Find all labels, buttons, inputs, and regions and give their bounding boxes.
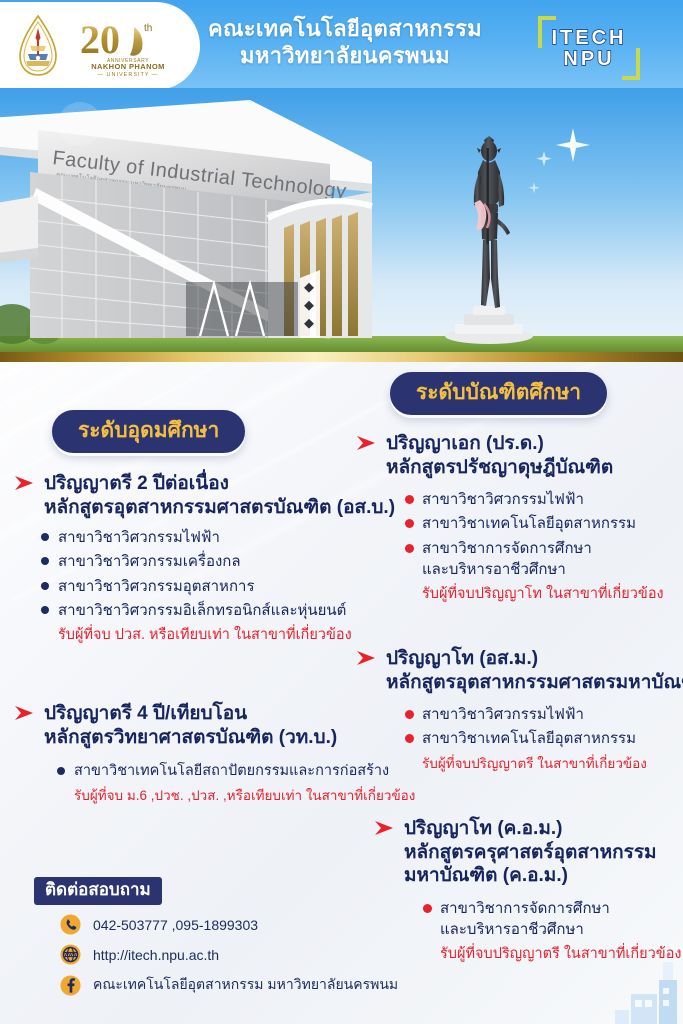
arrow-right-icon (356, 650, 378, 666)
contact-section: ติดต่อสอบถาม 042-503777 ,095-1899303 www… (34, 877, 334, 996)
major-label: สาขาวิชาวิศวกรรมไฟฟ้า (58, 529, 220, 546)
website-url: http://itech.npu.ac.th (93, 947, 219, 963)
bullet-dot-icon (41, 582, 49, 590)
major-list: สาขาวิชาวิศวกรรมไฟฟ้า สาขาวิชาเทคโนโลยีอ… (404, 489, 683, 604)
contact-row-phone[interactable]: 042-503777 ,095-1899303 (34, 914, 334, 935)
major-list: สาขาวิชาวิศวกรรมไฟฟ้า สาขาวิชาวิศวกรรมเค… (40, 527, 344, 645)
list-item: สาขาวิชาเทคโนโลยีอุตสาหกรรม (404, 728, 683, 749)
list-item: สาขาวิชาการจัดการศึกษา และบริหารอาชีวศึก… (404, 538, 683, 581)
program-title-line1: ปริญญาเอก (ปร.ด.) (386, 432, 613, 456)
major-label: สาขาวิชาวิศวกรรมอิเล็กทรอนิกส์และหุ่นยนต… (58, 602, 346, 619)
bullet-dot-icon (41, 533, 49, 541)
program-block: ปริญญาโท (ค.อ.ม.) หลักสูตรครุศาสตร์อุตสา… (374, 817, 683, 968)
program-block: ปริญญาเอก (ปร.ด.) หลักสูตรปรัชญาดุษฎีบัณ… (356, 432, 683, 608)
svg-text:20: 20 (80, 17, 120, 62)
svg-text:— UNIVERSITY —: — UNIVERSITY — (98, 72, 159, 78)
list-item-note: รับผู้ที่จบปริญญาตรี ในสาขาที่เกี่ยวข้อง (404, 753, 683, 774)
svg-text:www: www (64, 952, 78, 958)
bullet-dot-icon (423, 904, 432, 913)
bullet-dot-icon (405, 734, 414, 743)
major-list: สาขาวิชาการจัดการศึกษา และบริหารอาชีวศึก… (422, 898, 683, 965)
list-item: สาขาวิชาเทคโนโลยีสถาปัตยกรรมและการก่อสร้… (56, 761, 344, 782)
bullet-dot-icon (405, 544, 414, 553)
admission-note: รับผู้ที่จบปริญญาตรี ในสาขาที่เกี่ยวข้อง (422, 756, 647, 771)
list-item: สาขาวิชาการจัดการศึกษา และบริหารอาชีวศึก… (422, 898, 683, 941)
bullet-dot-icon (41, 606, 49, 614)
phone-number: 042-503777 ,095-1899303 (93, 917, 258, 933)
admission-note: รับผู้ที่จบปริญญาโท ในสาขาที่เกี่ยวข้อง (422, 586, 664, 602)
undergraduate-pill-wrap: ระดับอุดมศึกษา (52, 410, 245, 453)
arrow-right-icon (14, 705, 36, 721)
bullet-dot-icon (405, 495, 414, 504)
list-item-note: รับผู้ที่จบ ปวส. หรือเทียบเท่า ในสาขาที่… (40, 624, 344, 645)
program-block: ปริญญาตรี 4 ปี/เทียบโอน หลักสูตรวิทยาศาส… (14, 702, 344, 809)
list-item: สาขาวิชาวิศวกรรมอุตสาหการ (40, 576, 344, 597)
major-label: สาขาวิชาการจัดการศึกษา (440, 900, 610, 917)
major-list: สาขาวิชาวิศวกรรมไฟฟ้า สาขาวิชาเทคโนโลยีอ… (404, 704, 683, 774)
graduate-column: ระดับบัณฑิตศึกษา ปริญญาเอก (ปร.ด.) หลักส… (338, 362, 683, 1024)
program-heading: ปริญญาเอก (ปร.ด.) หลักสูตรปรัชญาดุษฎีบัณ… (356, 432, 683, 479)
undergraduate-pill-label: ระดับอุดมศึกษา (52, 410, 245, 453)
major-list: สาขาวิชาเทคโนโลยีสถาปัตยกรรมและการก่อสร้… (56, 761, 344, 806)
page-title-line2: มหาวิทยาลัยนครพนม (180, 43, 510, 70)
itech-npu-logo: ITECH NPU (534, 14, 644, 82)
contact-row-facebook[interactable]: คณะเทคโนโลยีอุตสาหกรรม มหาวิทยาลัยนครพนม (34, 974, 334, 996)
list-item: สาขาวิชาวิศวกรรมไฟฟ้า (40, 527, 344, 548)
major-label: สาขาวิชาวิศวกรรมเครื่องกล (58, 553, 241, 570)
contact-title: ติดต่อสอบถาม (34, 877, 162, 905)
arrow-right-icon (14, 475, 36, 491)
list-item-note: รับผู้ที่จบปริญญาโท ในสาขาที่เกี่ยวข้อง (404, 583, 683, 604)
list-item: สาขาวิชาวิศวกรรมไฟฟ้า (404, 489, 683, 510)
list-item: สาขาวิชาวิศวกรรมไฟฟ้า (404, 704, 683, 725)
bullet-dot-icon (57, 767, 65, 775)
program-title-line1: ปริญญาโท (ค.อ.ม.) (404, 817, 657, 841)
gold-divider (0, 352, 683, 362)
header-logo-group: 20 th ANNIVERSARY NAKHON PHANOM — UNIVER… (0, 2, 200, 90)
anniversary-logo-icon: 20 th ANNIVERSARY NAKHON PHANOM — UNIVER… (72, 13, 184, 79)
program-heading: ปริญญาโท (อส.ม.) หลักสูตรอุตสาหกรรมศาสตร… (356, 647, 683, 694)
list-item: สาขาวิชาเทคโนโลยีอุตสาหกรรม (404, 513, 683, 534)
program-heading: ปริญญาตรี 4 ปี/เทียบโอน หลักสูตรวิทยาศาส… (14, 702, 344, 749)
undergraduate-column: ระดับอุดมศึกษา ปริญญาตรี 2 ปีต่อเนื่อง ห… (0, 362, 345, 1024)
bullet-dot-icon (405, 519, 414, 528)
major-label: สาขาวิชาวิศวกรรมอุตสาหการ (58, 578, 255, 595)
list-item: สาขาวิชาวิศวกรรมเครื่องกล (40, 551, 344, 572)
major-label: สาขาวิชาเทคโนโลยีอุตสาหกรรม (422, 515, 636, 532)
program-block: ปริญญาโท (อส.ม.) หลักสูตรอุตสาหกรรมศาสตร… (356, 647, 683, 777)
itech-logo-line1: ITECH (552, 28, 627, 48)
contact-row-website[interactable]: www http://itech.npu.ac.th (34, 944, 334, 965)
arrow-right-icon (356, 435, 378, 451)
major-label-continued: และบริหารอาชีวศึกษา (440, 919, 683, 940)
page-title-line1: คณะเทคโนโลยีอุตสาหกรรม (180, 16, 510, 43)
poster-header: 20 th ANNIVERSARY NAKHON PHANOM — UNIVER… (0, 0, 683, 92)
arrow-right-icon (374, 820, 396, 836)
admission-note: รับผู้ที่จบปริญญาตรี ในสาขาที่เกี่ยวข้อง (440, 946, 682, 962)
major-label: สาขาวิชาเทคโนโลยีอุตสาหกรรม (422, 730, 636, 747)
major-label: สาขาวิชาวิศวกรรมไฟฟ้า (422, 491, 584, 508)
list-item-note: รับผู้ที่จบปริญญาตรี ในสาขาที่เกี่ยวข้อง (422, 943, 683, 964)
facebook-icon (60, 975, 81, 996)
svg-text:NAKHON PHANOM: NAKHON PHANOM (91, 62, 165, 71)
website-icon: www (60, 944, 81, 965)
major-label: สาขาวิชาการจัดการศึกษา (422, 540, 592, 557)
bullet-dot-icon (405, 710, 414, 719)
itech-logo-line2: NPU (563, 49, 614, 69)
page-title: คณะเทคโนโลยีอุตสาหกรรม มหาวิทยาลัยนครพนม (180, 16, 510, 70)
program-title-line1: ปริญญาตรี 4 ปี/เทียบโอน (44, 702, 337, 726)
program-title-line1: ปริญญาโท (อส.ม.) (386, 647, 683, 671)
graduate-pill-wrap: ระดับบัณฑิตศึกษา (390, 372, 607, 415)
list-item-note: รับผู้ที่จบ ม.6 ,ปวช. ,ปวส. ,หรือเทียบเท… (56, 785, 344, 806)
hero-photo: Faculty of Industrial Technology คณะเทคโ… (0, 88, 683, 360)
program-block: ปริญญาตรี 2 ปีต่อเนื่อง หลักสูตรอุตสาหกร… (14, 472, 344, 649)
major-label: สาขาวิชาวิศวกรรมไฟฟ้า (422, 706, 584, 723)
poster-root: 20 th ANNIVERSARY NAKHON PHANOM — UNIVER… (0, 0, 683, 1024)
program-title-line2: หลักสูตรอุตสาหกรรมศาสตรมหาบัณฑิต (386, 671, 683, 695)
program-title-line2: หลักสูตรวิทยาศาสตรบัณฑิต (วท.บ.) (44, 726, 337, 750)
major-label-continued: และบริหารอาชีวศึกษา (422, 559, 683, 580)
program-heading: ปริญญาโท (ค.อ.ม.) หลักสูตรครุศาสตร์อุตสา… (374, 817, 683, 888)
graduate-pill-label: ระดับบัณฑิตศึกษา (390, 372, 607, 415)
svg-text:th: th (144, 23, 152, 34)
university-seal-icon (10, 14, 66, 78)
admission-note: รับผู้ที่จบ ปวส. หรือเทียบเท่า ในสาขาที่… (58, 627, 352, 643)
program-heading: ปริญญาตรี 2 ปีต่อเนื่อง หลักสูตรอุตสาหกร… (14, 472, 344, 519)
bullet-dot-icon (41, 557, 49, 565)
program-title-line3: มหาบัณฑิต (ค.อ.ม.) (404, 864, 657, 888)
program-title-line2: หลักสูตรปรัชญาดุษฎีบัณฑิต (386, 456, 613, 480)
list-item: สาขาวิชาวิศวกรรมอิเล็กทรอนิกส์และหุ่นยนต… (40, 600, 344, 621)
program-title-line2: หลักสูตรครุศาสตร์อุตสาหกรรม (404, 841, 657, 865)
phone-icon (60, 914, 81, 935)
